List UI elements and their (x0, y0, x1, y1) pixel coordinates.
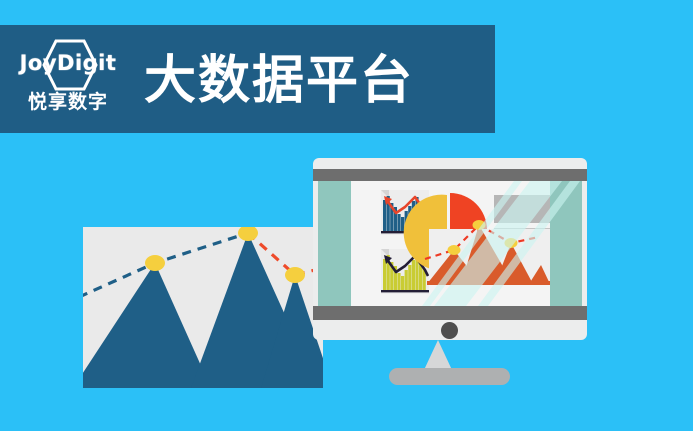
monitor-stand-base (389, 368, 510, 385)
data-point-marker (145, 255, 165, 271)
blue-mountain-chart (83, 227, 323, 388)
logo-subtitle: 悦享数字 (12, 87, 124, 114)
mountain-shape-1 (83, 263, 211, 388)
brand-logo: JoyDigit 悦享数字 (0, 25, 132, 133)
glass-reflection (318, 181, 582, 306)
monitor-stand-neck (424, 340, 452, 370)
data-point-marker (285, 267, 305, 283)
monitor-bottom-bar (313, 306, 587, 320)
page-title: 大数据平台 (144, 55, 414, 107)
monitor-screen (318, 181, 582, 306)
header-banner: JoyDigit 悦享数字 大数据平台 (0, 25, 495, 133)
infographic-canvas: JoyDigit 悦享数字 大数据平台 (0, 0, 693, 431)
monitor-top-bar (313, 169, 587, 181)
monitor-display (313, 158, 587, 340)
blue-mountain-chart-svg (83, 227, 323, 388)
power-button[interactable] (441, 322, 458, 339)
logo-wordmark: JoyDigit (12, 51, 124, 75)
data-point-marker (238, 227, 258, 241)
